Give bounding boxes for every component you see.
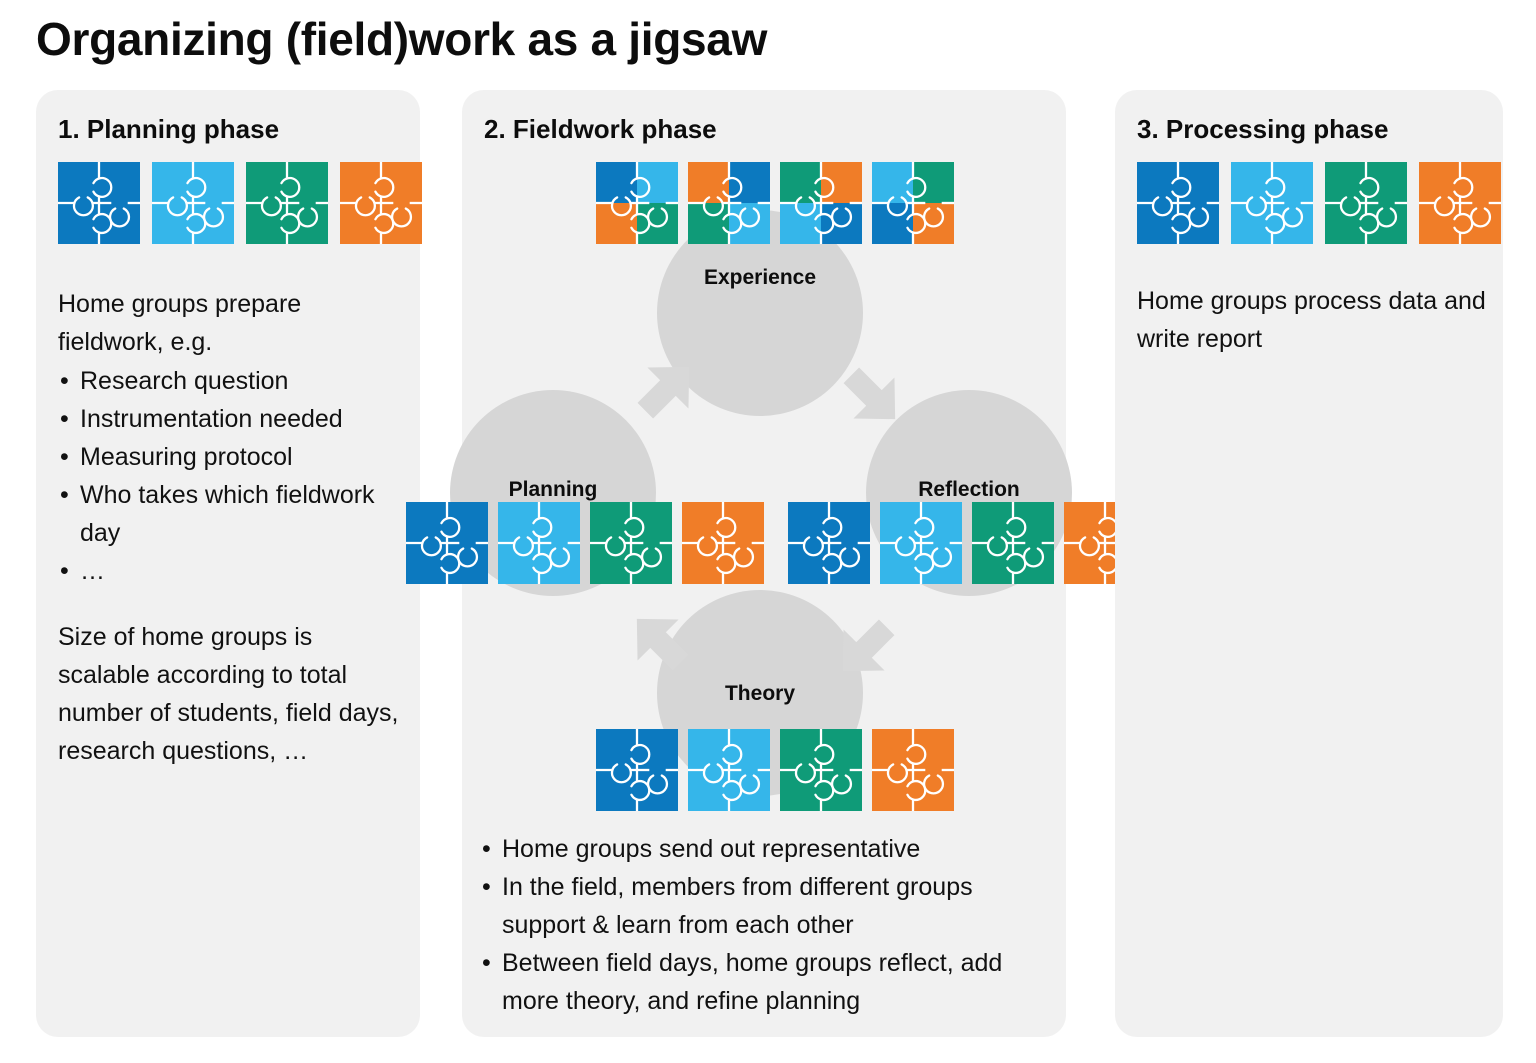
arrow-planning-to-experience <box>608 338 718 448</box>
bullet-item: … <box>58 552 408 590</box>
jigsaw-home-group-3 <box>246 162 328 244</box>
processing-intro-text: Home groups process data and write repor… <box>1137 282 1487 358</box>
fieldwork-bullet-list: Home groups send out representativeIn th… <box>480 830 1045 1020</box>
panel-title-fieldwork: 2. Fieldwork phase <box>484 114 717 145</box>
panel-title-processing: 3. Processing phase <box>1137 114 1388 145</box>
jigsaw-mixed-group-2 <box>688 162 770 244</box>
jigsaw-home-group-4 <box>682 502 764 584</box>
panel-fieldwork-phase: 2. Fieldwork phase Experience Planning R… <box>462 90 1066 1037</box>
jigsaw-home-group-2 <box>498 502 580 584</box>
jigsaw-home-group-2 <box>688 729 770 811</box>
jigsaw-home-group-3 <box>780 729 862 811</box>
panel-title-planning: 1. Planning phase <box>58 114 279 145</box>
planning-note-text: Size of home groups is scalable accordin… <box>58 618 404 770</box>
arrow-experience-to-reflection <box>814 338 924 448</box>
cycle-label-planning: Planning <box>509 478 598 502</box>
jigsaw-home-group-1 <box>596 729 678 811</box>
page-title: Organizing (field)work as a jigsaw <box>36 12 767 66</box>
jigsaw-home-group-1 <box>406 502 488 584</box>
cycle-label-experience: Experience <box>704 266 816 290</box>
jigsaw-row-planning <box>406 502 764 584</box>
jigsaw-home-group-1 <box>58 162 140 244</box>
jigsaw-home-group-3 <box>1325 162 1407 244</box>
cycle-label-reflection: Reflection <box>918 478 1020 502</box>
jigsaw-home-group-4 <box>340 162 422 244</box>
arrow-theory-to-planning <box>608 590 718 700</box>
jigsaw-mixed-group-3 <box>780 162 862 244</box>
bullet-item: Measuring protocol <box>58 438 408 476</box>
jigsaw-mixed-group-4 <box>872 162 954 244</box>
cycle-label-theory: Theory <box>725 682 795 706</box>
jigsaw-home-group-4 <box>1419 162 1501 244</box>
bullet-item: Between field days, home groups reflect,… <box>480 944 1045 1020</box>
bullet-item: Research question <box>58 362 408 400</box>
jigsaw-row-processing-phase <box>1137 162 1501 244</box>
bullet-item: In the field, members from different gro… <box>480 868 1045 944</box>
bullet-item: Instrumentation needed <box>58 400 408 438</box>
panel-planning-phase: 1. Planning phase Home groups prepare fi… <box>36 90 420 1037</box>
jigsaw-row-experience <box>596 162 954 244</box>
jigsaw-home-group-3 <box>972 502 1054 584</box>
jigsaw-home-group-4 <box>872 729 954 811</box>
jigsaw-home-group-3 <box>590 502 672 584</box>
arrow-reflection-to-theory <box>814 590 924 700</box>
jigsaw-mixed-group-1 <box>596 162 678 244</box>
planning-intro-text: Home groups prepare fieldwork, e.g. <box>58 285 403 361</box>
jigsaw-row-reflection <box>788 502 1146 584</box>
slide-canvas: Organizing (field)work as a jigsaw 1. Pl… <box>0 0 1536 1063</box>
bullet-item: Home groups send out representative <box>480 830 1045 868</box>
jigsaw-home-group-2 <box>880 502 962 584</box>
planning-bullet-list: Research questionInstrumentation neededM… <box>58 362 408 590</box>
jigsaw-row-theory <box>596 729 954 811</box>
jigsaw-row-planning-phase <box>58 162 422 244</box>
panel-processing-phase: 3. Processing phase Home groups process … <box>1115 90 1503 1037</box>
jigsaw-home-group-1 <box>788 502 870 584</box>
jigsaw-home-group-2 <box>1231 162 1313 244</box>
jigsaw-home-group-2 <box>152 162 234 244</box>
bullet-item: Who takes which fieldwork day <box>58 476 408 552</box>
jigsaw-home-group-1 <box>1137 162 1219 244</box>
